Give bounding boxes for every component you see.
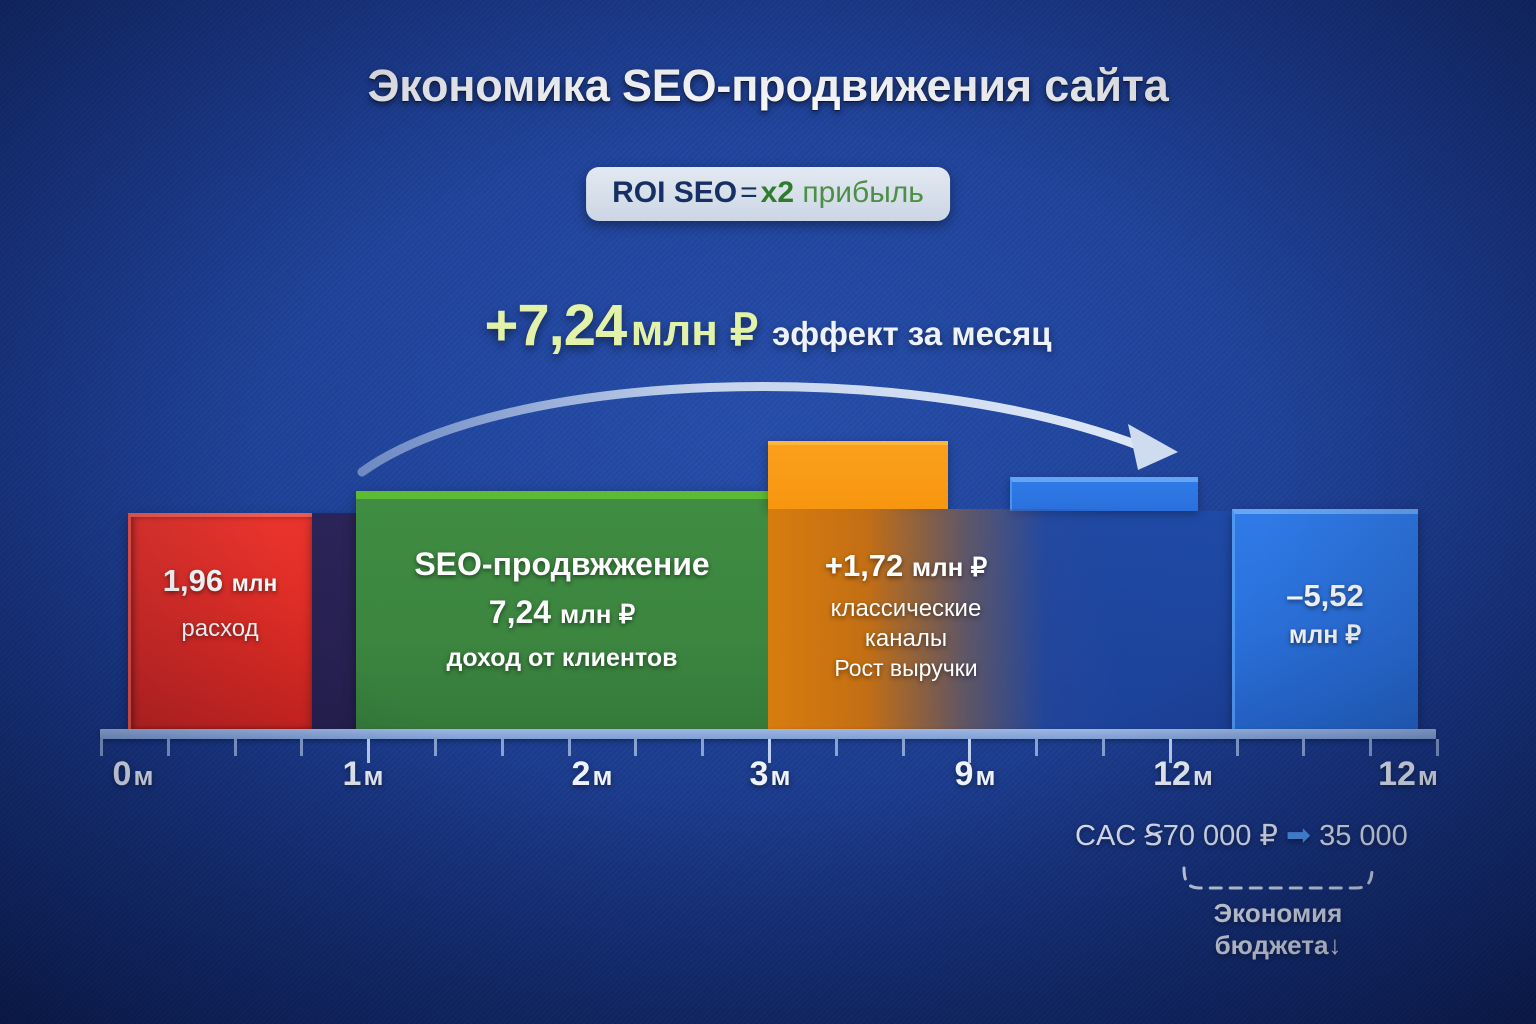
- savings-caption: Экономия бюджета↓: [1178, 898, 1378, 961]
- axis-label-0: 0м: [113, 755, 154, 794]
- bar-orange-line4: Рост выручки: [776, 655, 1036, 682]
- axis-label-4: 9м: [955, 755, 996, 794]
- bar-blue-value: –5,52: [1232, 578, 1418, 614]
- bar-orange-line3: каналы: [776, 625, 1036, 653]
- bar-red-labels: 1,96 млн расход: [128, 563, 312, 643]
- bar-orange-value: +1,72 млн ₽: [776, 548, 1036, 584]
- axis-label-2: 2м: [572, 755, 613, 794]
- axis-tick: [300, 739, 303, 756]
- bar-orange-labels: +1,72 млн ₽ классические каналы Рост выр…: [776, 548, 1036, 682]
- axis-tick: [1102, 739, 1105, 756]
- x-axis-line: [100, 729, 1436, 739]
- cac-label: CAC: [1075, 820, 1136, 852]
- axis-tick: [701, 739, 704, 756]
- axis-label-3: 3м: [750, 755, 791, 794]
- axis-tick: [568, 739, 571, 756]
- axis-tick: [634, 739, 637, 756]
- bar-green-title: SEO-продвжжение: [356, 546, 768, 583]
- bar-red-value: 1,96 млн: [128, 563, 312, 599]
- bar-blue-mid-top: [1010, 477, 1198, 511]
- bar-orange-top: [768, 441, 948, 509]
- axis-tick: [434, 739, 437, 756]
- axis-tick: [1035, 739, 1038, 756]
- savings-brace: [1178, 866, 1378, 902]
- cac-from: Ꞩ70 000 ₽: [1144, 820, 1278, 852]
- axis-tick: [100, 739, 103, 756]
- cac-arrow-icon: ➡: [1286, 819, 1311, 852]
- axis-tick: [1369, 739, 1372, 756]
- axis-label-6: 12м: [1378, 755, 1438, 794]
- axis-tick: [902, 739, 905, 756]
- bar-green-labels: SEO-продвжжение 7,24 млн ₽ доход от клие…: [356, 546, 768, 673]
- cac-metric: CAC Ꞩ70 000 ₽➡35 000: [1075, 818, 1408, 853]
- axis-tick: [1302, 739, 1305, 756]
- bar-red-caption: расход: [128, 615, 312, 643]
- axis-label-1: 1м: [343, 755, 384, 794]
- infographic-canvas: Экономика SEO-продвижения сайта ROI SEO=…: [0, 0, 1536, 1024]
- axis-tick: [234, 739, 237, 756]
- bar-blue-unit: млн ₽: [1232, 620, 1418, 650]
- bar-blue-labels: –5,52 млн ₽: [1232, 578, 1418, 650]
- bar-green-value: 7,24 млн ₽: [356, 594, 768, 631]
- savings-line2: бюджета↓: [1215, 930, 1342, 960]
- axis-tick: [835, 739, 838, 756]
- bar-gap-block: [312, 513, 356, 729]
- savings-line1: Экономия: [1214, 898, 1343, 928]
- axis-tick: [167, 739, 170, 756]
- bar-green-caption: доход от клиентов: [356, 644, 768, 673]
- axis-label-5: 12м: [1153, 755, 1213, 794]
- axis-tick: [501, 739, 504, 756]
- axis-tick: [1436, 739, 1439, 756]
- cac-to: 35 000: [1319, 820, 1408, 852]
- axis-tick: [1236, 739, 1239, 756]
- bar-orange-line2: классические: [776, 595, 1036, 623]
